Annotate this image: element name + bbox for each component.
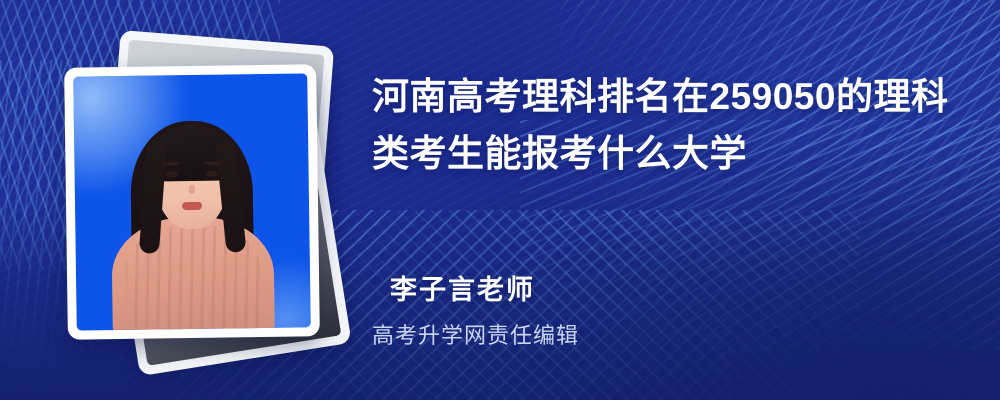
author-role: 高考升学网责任编辑 <box>372 318 579 350</box>
portrait-nose <box>189 185 195 194</box>
portrait-dress <box>111 216 275 331</box>
author-photo <box>73 73 311 330</box>
banner-text-block: 河南高考理科排名在259050的理科类考生能报考什么大学 李子言老师 高考升学网… <box>372 0 972 400</box>
page-title: 河南高考理科排名在259050的理科类考生能报考什么大学 <box>372 68 952 182</box>
author-photo-stack <box>58 38 348 368</box>
article-header-banner: 河南高考理科排名在259050的理科类考生能报考什么大学 李子言老师 高考升学网… <box>0 0 1000 400</box>
author-name: 李子言老师 <box>390 268 535 307</box>
portrait-eye-right <box>206 171 218 177</box>
portrait-eye-left <box>166 171 178 177</box>
author-portrait-illustration <box>73 73 311 330</box>
portrait-mouth <box>182 202 202 210</box>
author-photo-card <box>64 64 320 339</box>
